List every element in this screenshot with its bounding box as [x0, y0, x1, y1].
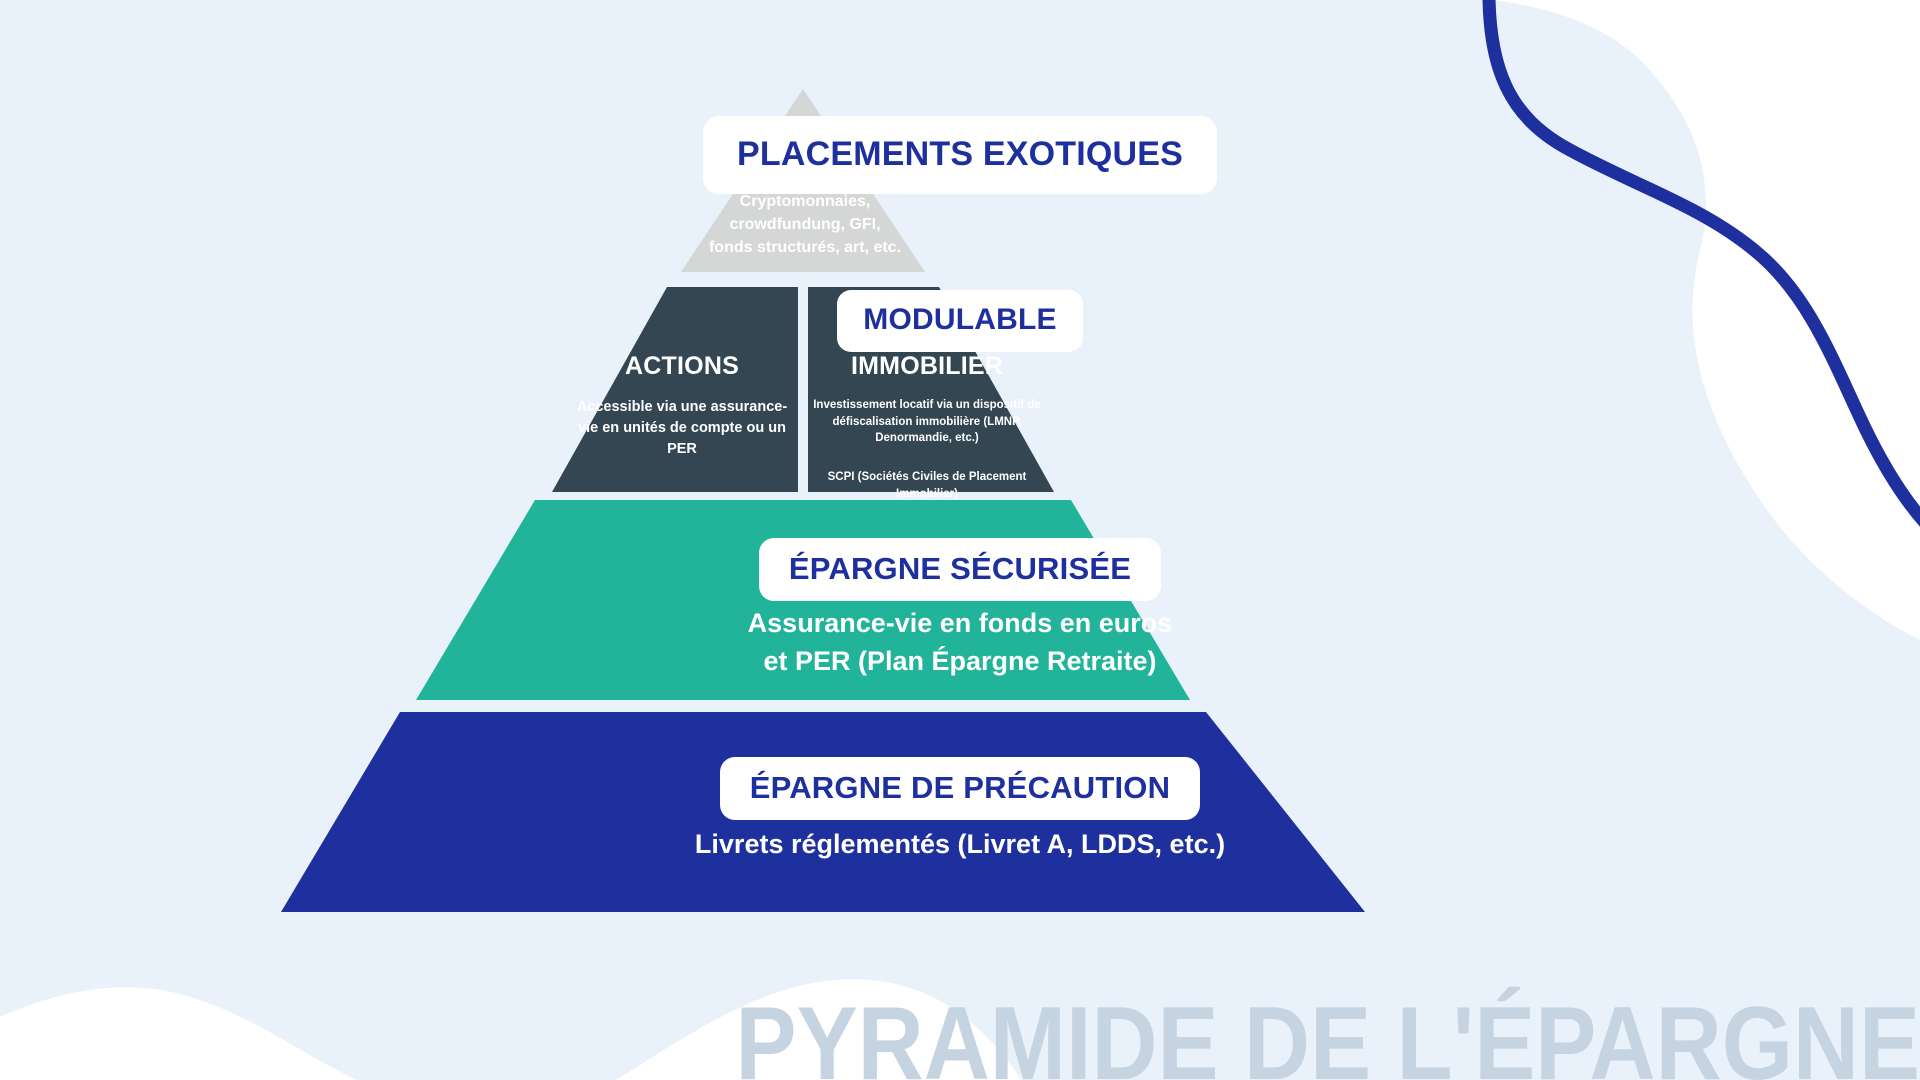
apex-desc-line-2: crowdfundung, GFI,: [660, 213, 950, 236]
epargne-de-precaution-description: Livrets réglementés (Livret A, LDDS, etc…: [0, 826, 1920, 864]
placements-exotiques-pill[interactable]: PLACEMENTS EXOTIQUES: [703, 116, 1217, 194]
epargne-de-precaution-pill[interactable]: ÉPARGNE DE PRÉCAUTION: [720, 757, 1200, 820]
actions-heading: ACTIONS: [572, 352, 792, 381]
epargne-securisee-pill[interactable]: ÉPARGNE SÉCURISÉE: [759, 538, 1161, 601]
immobilier-body-1: Investissement locatif via un dispositif…: [812, 397, 1042, 447]
watermark-title: PYRAMIDE DE L'ÉPARGNE: [735, 985, 1920, 1080]
infographic-canvas: PYRAMIDE DE L'ÉPARGNE PLACEMENTS EXOTIQU…: [0, 0, 1920, 1080]
apex-desc-line-3: fonds structurés, art, etc.: [660, 236, 950, 259]
securisee-desc-line-1: Assurance-vie en fonds en euros: [0, 604, 1920, 642]
immobilier-body-2: SCPI (Sociétés Civiles de Placement Immo…: [812, 469, 1042, 502]
modulable-pill[interactable]: MODULABLE: [837, 290, 1082, 352]
placements-exotiques-description: Cryptomonnaies, crowdfundung, GFI, fonds…: [660, 190, 950, 260]
epargne-de-precaution-label-row: ÉPARGNE DE PRÉCAUTION: [0, 757, 1920, 820]
placements-exotiques-label-row: PLACEMENTS EXOTIQUES: [0, 116, 1920, 194]
immobilier-heading: IMMOBILIER: [812, 352, 1042, 381]
modulable-label-row: MODULABLE: [0, 290, 1920, 352]
modulable-column-immobilier[interactable]: IMMOBILIER Investissement locatif via un…: [812, 352, 1042, 502]
actions-body: Accessible via une assurance-vie en unit…: [572, 397, 792, 460]
epargne-securisee-description: Assurance-vie en fonds en euros et PER (…: [0, 604, 1920, 681]
epargne-securisee-label-row: ÉPARGNE SÉCURISÉE: [0, 538, 1920, 601]
modulable-column-actions[interactable]: ACTIONS Accessible via une assurance-vie…: [572, 352, 792, 460]
securisee-desc-line-2: et PER (Plan Épargne Retraite): [0, 642, 1920, 680]
